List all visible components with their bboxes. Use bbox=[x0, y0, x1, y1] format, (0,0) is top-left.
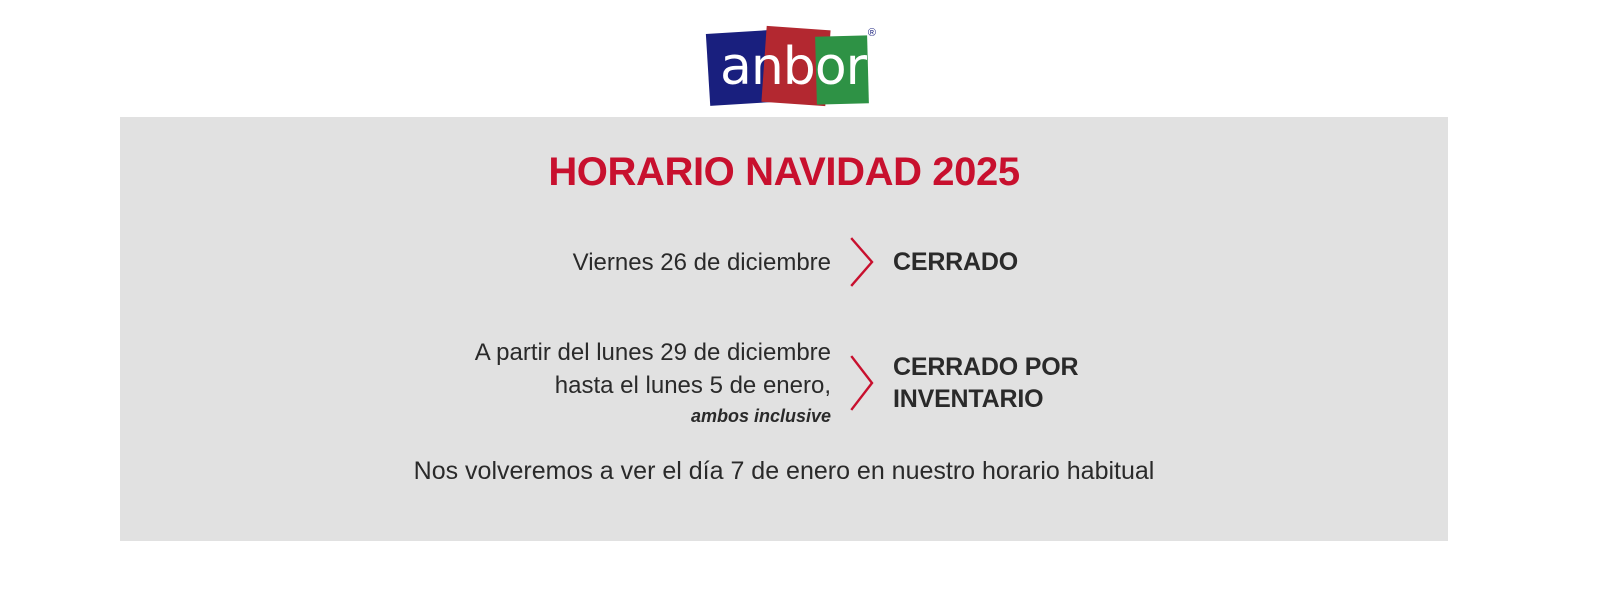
schedule-row: A partir del lunes 29 de diciembre hasta… bbox=[120, 335, 1448, 431]
chevron-right-icon bbox=[831, 354, 893, 412]
chevron-right-icon bbox=[831, 236, 893, 288]
schedule-date: A partir del lunes 29 de diciembre hasta… bbox=[120, 336, 831, 430]
christmas-hours-banner: anbor ® HORARIO NAVIDAD 2025 Viernes 26 … bbox=[0, 0, 1600, 595]
schedule-date-line: A partir del lunes 29 de diciembre bbox=[120, 336, 831, 369]
schedule-list: Viernes 26 de diciembre CERRADO A partir… bbox=[120, 235, 1448, 431]
schedule-status-line: CERRADO POR bbox=[893, 351, 1448, 383]
anbor-logo: anbor ® bbox=[706, 24, 876, 110]
schedule-status-line: CERRADO bbox=[893, 246, 1448, 278]
schedule-date-line: hasta el lunes 5 de enero, bbox=[120, 369, 831, 402]
schedule-status-line: INVENTARIO bbox=[893, 383, 1448, 415]
schedule-date: Viernes 26 de diciembre bbox=[120, 246, 831, 279]
schedule-date-note: ambos inclusive bbox=[120, 402, 831, 430]
page-title: HORARIO NAVIDAD 2025 bbox=[120, 150, 1448, 195]
schedule-status: CERRADO POR INVENTARIO bbox=[893, 351, 1448, 415]
schedule-row: Viernes 26 de diciembre CERRADO bbox=[120, 235, 1448, 289]
schedule-status: CERRADO bbox=[893, 246, 1448, 278]
return-date-note: Nos volveremos a ver el día 7 de enero e… bbox=[120, 457, 1448, 486]
logo-wordmark: anbor bbox=[706, 24, 876, 110]
schedule-date-line: Viernes 26 de diciembre bbox=[120, 246, 831, 279]
notice-panel: HORARIO NAVIDAD 2025 Viernes 26 de dicie… bbox=[120, 117, 1448, 541]
registered-trademark-icon: ® bbox=[868, 28, 876, 39]
